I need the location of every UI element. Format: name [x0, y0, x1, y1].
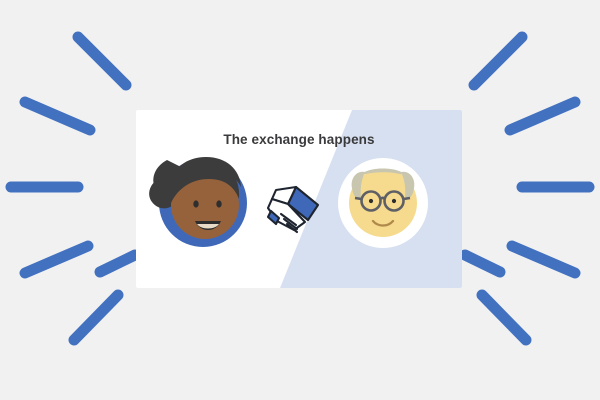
woman-eye-right: [216, 200, 221, 207]
exchange-card: [0, 0, 600, 400]
illustration-canvas: The exchange happens: [0, 0, 600, 400]
elderly-person-avatar: [338, 158, 428, 248]
elderly-eye-right: [392, 199, 396, 203]
glasses-bridge: [381, 198, 386, 199]
woman-eye-left: [193, 200, 198, 207]
glasses-temple-left: [355, 198, 362, 199]
card-title: The exchange happens: [136, 132, 462, 147]
elderly-eye-left: [369, 199, 373, 203]
glasses-temple-right: [404, 198, 411, 199]
